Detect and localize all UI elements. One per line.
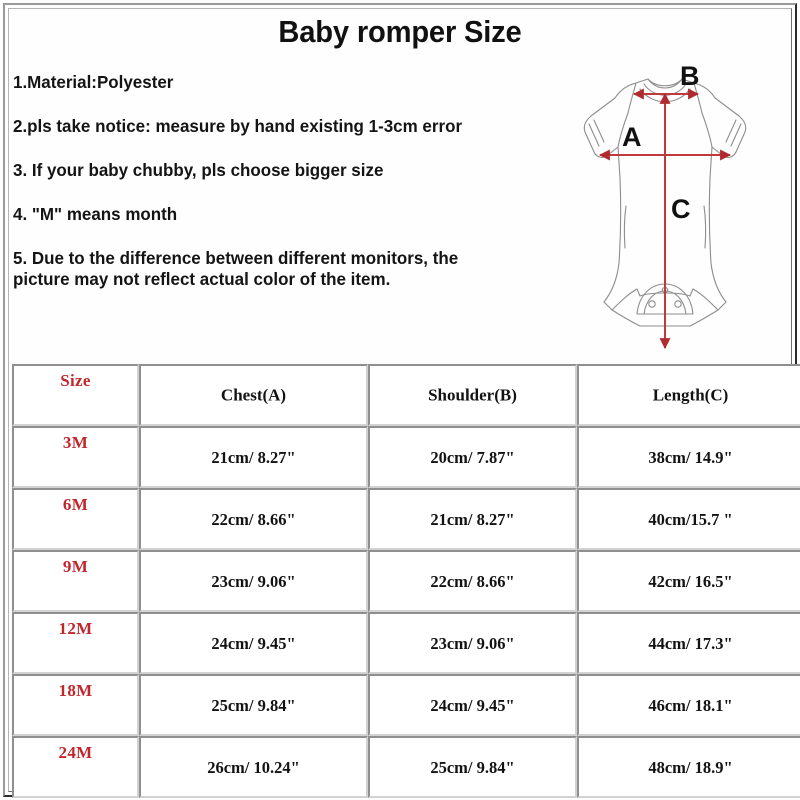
length-value: 42cm/ 16.5" bbox=[579, 572, 800, 592]
note-item-5: 5. Due to the difference between differe… bbox=[13, 248, 508, 290]
header-label-chest: Chest(A) bbox=[141, 385, 366, 405]
length-value: 48cm/ 18.9" bbox=[579, 758, 800, 778]
cell-length: 40cm/15.7 " bbox=[577, 488, 800, 550]
table-header-row: Size Chest(A) Shoulder(B) Length(C) bbox=[12, 364, 800, 426]
shoulder-value: 23cm/ 9.06" bbox=[370, 634, 575, 654]
cell-chest: 23cm/ 9.06" bbox=[139, 550, 368, 612]
size-label: 12M bbox=[14, 619, 137, 639]
label-c-text: C bbox=[671, 194, 691, 224]
note-item-2: 2.pls take notice: measure by hand exist… bbox=[13, 116, 508, 137]
shoulder-value: 25cm/ 9.84" bbox=[370, 758, 575, 778]
cell-shoulder: 24cm/ 9.45" bbox=[368, 674, 577, 736]
cell-shoulder: 22cm/ 8.66" bbox=[368, 550, 577, 612]
shoulder-value: 21cm/ 8.27" bbox=[370, 510, 575, 530]
cell-length: 46cm/ 18.1" bbox=[577, 674, 800, 736]
header-cell-chest: Chest(A) bbox=[139, 364, 368, 426]
length-value: 38cm/ 14.9" bbox=[579, 448, 800, 468]
cell-size: 3M bbox=[12, 426, 139, 488]
notes-list: 1.Material:Polyester 2.pls take notice: … bbox=[13, 72, 523, 290]
measurement-arrows-group bbox=[600, 94, 730, 348]
size-label: 3M bbox=[14, 433, 137, 453]
size-label: 18M bbox=[14, 681, 137, 701]
cell-chest: 22cm/ 8.66" bbox=[139, 488, 368, 550]
cell-size: 18M bbox=[12, 674, 139, 736]
chest-value: 23cm/ 9.06" bbox=[141, 572, 366, 592]
cell-chest: 25cm/ 9.84" bbox=[139, 674, 368, 736]
size-table: Size Chest(A) Shoulder(B) Length(C) 3M 2… bbox=[12, 364, 800, 798]
shoulder-seam-left bbox=[628, 83, 636, 113]
note-item-3: 3. If your baby chubby, pls choose bigge… bbox=[13, 160, 508, 181]
shoulder-value: 22cm/ 8.66" bbox=[370, 572, 575, 592]
cell-size: 24M bbox=[12, 736, 139, 798]
cell-size: 9M bbox=[12, 550, 139, 612]
cell-length: 48cm/ 18.9" bbox=[577, 736, 800, 798]
note-item-4: 4. "M" means month bbox=[13, 204, 508, 225]
length-value: 46cm/ 18.1" bbox=[579, 696, 800, 716]
chest-value: 26cm/ 10.24" bbox=[141, 758, 366, 778]
shoulder-value: 24cm/ 9.45" bbox=[370, 696, 575, 716]
label-a-text: A bbox=[622, 122, 642, 152]
snap-button-left bbox=[649, 301, 655, 307]
cell-size: 12M bbox=[12, 612, 139, 674]
table-row: 9M 23cm/ 9.06" 22cm/ 8.66" 42cm/ 16.5" bbox=[12, 550, 800, 612]
chest-value: 25cm/ 9.84" bbox=[141, 696, 366, 716]
cell-shoulder: 20cm/ 7.87" bbox=[368, 426, 577, 488]
table-row: 12M 24cm/ 9.45" 23cm/ 9.06" 44cm/ 17.3" bbox=[12, 612, 800, 674]
cell-length: 44cm/ 17.3" bbox=[577, 612, 800, 674]
cell-size: 6M bbox=[12, 488, 139, 550]
size-label: 6M bbox=[14, 495, 137, 515]
cell-chest: 24cm/ 9.45" bbox=[139, 612, 368, 674]
cell-shoulder: 21cm/ 8.27" bbox=[368, 488, 577, 550]
chest-value: 24cm/ 9.45" bbox=[141, 634, 366, 654]
fold-right bbox=[704, 206, 706, 248]
cell-shoulder: 23cm/ 9.06" bbox=[368, 612, 577, 674]
romper-illustration-svg: B A C bbox=[540, 58, 790, 358]
cell-length: 38cm/ 14.9" bbox=[577, 426, 800, 488]
chest-value: 22cm/ 8.66" bbox=[141, 510, 366, 530]
header-label-size: Size bbox=[14, 371, 137, 391]
table-row: 18M 25cm/ 9.84" 24cm/ 9.45" 46cm/ 18.1" bbox=[12, 674, 800, 736]
header-label-length: Length(C) bbox=[579, 385, 800, 405]
length-value: 40cm/15.7 " bbox=[579, 510, 800, 530]
note-item-1: 1.Material:Polyester bbox=[13, 72, 508, 93]
fold-left bbox=[624, 206, 626, 248]
length-value: 44cm/ 17.3" bbox=[579, 634, 800, 654]
page-title: Baby romper Size bbox=[24, 14, 776, 50]
armhole-right bbox=[702, 113, 712, 147]
cell-chest: 26cm/ 10.24" bbox=[139, 736, 368, 798]
table-row: 3M 21cm/ 8.27" 20cm/ 7.87" 38cm/ 14.9" bbox=[12, 426, 800, 488]
shoulder-value: 20cm/ 7.87" bbox=[370, 448, 575, 468]
romper-diagram: B A C bbox=[540, 58, 790, 358]
cell-shoulder: 25cm/ 9.84" bbox=[368, 736, 577, 798]
header-cell-length: Length(C) bbox=[577, 364, 800, 426]
size-label: 24M bbox=[14, 743, 137, 763]
table-row: 6M 22cm/ 8.66" 21cm/ 8.27" 40cm/15.7 " bbox=[12, 488, 800, 550]
header-cell-shoulder: Shoulder(B) bbox=[368, 364, 577, 426]
size-table-body: Size Chest(A) Shoulder(B) Length(C) 3M 2… bbox=[12, 364, 800, 798]
size-label: 9M bbox=[14, 557, 137, 577]
snap-button-right bbox=[675, 301, 681, 307]
header-label-shoulder: Shoulder(B) bbox=[370, 385, 575, 405]
label-b-text: B bbox=[680, 61, 700, 91]
cell-length: 42cm/ 16.5" bbox=[577, 550, 800, 612]
size-chart-page: Baby romper Size 1.Material:Polyester 2.… bbox=[0, 0, 800, 800]
header-cell-size: Size bbox=[12, 364, 139, 426]
chest-value: 21cm/ 8.27" bbox=[141, 448, 366, 468]
cell-chest: 21cm/ 8.27" bbox=[139, 426, 368, 488]
table-row: 24M 26cm/ 10.24" 25cm/ 9.84" 48cm/ 18.9" bbox=[12, 736, 800, 798]
